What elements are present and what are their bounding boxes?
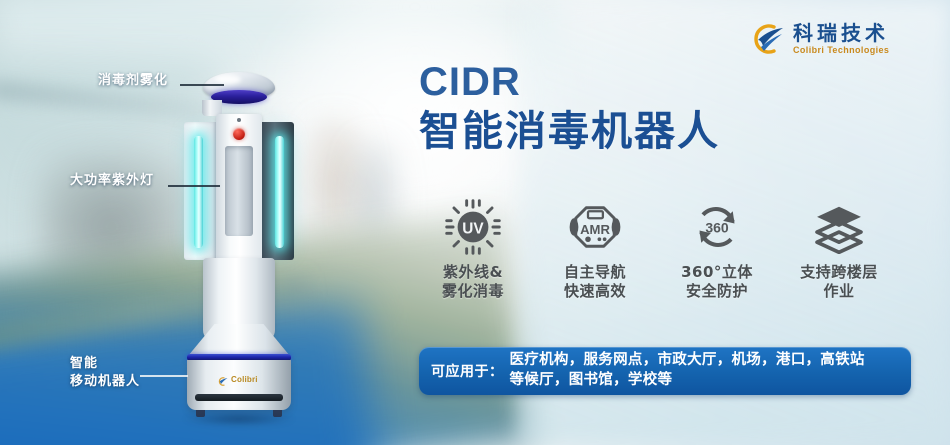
callout-leader-line-atomizer (180, 84, 224, 86)
feature-label-line2: 快速高效 (564, 282, 626, 301)
product-poster: 科瑞技术 Colibri Technologies CIDR 智能消毒机器人 (0, 0, 950, 445)
feature-label-uv: 紫外线& 雾化消毒 (442, 263, 504, 301)
svg-text:AMR: AMR (580, 222, 610, 237)
company-logo: 科瑞技术 Colibri Technologies (748, 20, 889, 58)
feature-item-amr: AMR 自主导航 快速高效 (534, 196, 656, 301)
feature-label-line2: 安全防护 (681, 282, 753, 301)
feature-label-line1: 自主导航 (564, 263, 626, 282)
application-banner-line2: 等候厅，图书馆，学校等 (510, 371, 865, 391)
feature-label-line1: 360°立体 (681, 263, 753, 282)
callout-leader-line-uv-lamp (168, 185, 220, 187)
feature-label-360: 360°立体 安全防护 (681, 263, 753, 301)
robot-shadow (182, 412, 296, 426)
robot-base-vent (195, 394, 283, 401)
uv-sun-icon: UV (444, 196, 502, 258)
application-banner-line1: 医疗机构，服务网点，市政大厅，机场，港口，高铁站 (510, 351, 865, 371)
rotate-360-icon: 360 (689, 196, 745, 258)
svg-text:360: 360 (705, 219, 729, 235)
layers-stack-icon (812, 196, 866, 258)
application-banner: 可应用于： 医疗机构，服务网点，市政大厅，机场，港口，高铁站 等候厅，图书馆，学… (419, 347, 911, 395)
robot-torso (184, 114, 294, 262)
colibri-swoosh-icon (748, 20, 786, 58)
robot-center-column (216, 114, 262, 262)
robot-illustration: Colibri (176, 72, 302, 432)
callout-mobile-robot: 智能 移动机器人 (70, 355, 140, 390)
feature-label-line2: 作业 (800, 282, 878, 301)
svg-text:UV: UV (462, 220, 484, 237)
callout-atomizer-line1: 消毒剂雾化 (98, 72, 168, 90)
robot-indicator-dot (237, 118, 241, 122)
callout-uv-lamp: 大功率紫外灯 (70, 172, 154, 190)
feature-list: UV 紫外线& 雾化消毒 AMR (412, 196, 912, 301)
robot-base-logo: Colibri (217, 374, 258, 385)
feature-label-line1: 紫外线& (442, 263, 504, 282)
callout-uv-lamp-line1: 大功率紫外灯 (70, 172, 154, 190)
robot-power-button[interactable] (233, 128, 245, 140)
company-name-en: Colibri Technologies (793, 46, 889, 55)
feature-label-multifloor: 支持跨楼层 作业 (800, 263, 878, 301)
robot-base: Colibri (187, 360, 291, 410)
feature-label-line2: 雾化消毒 (442, 282, 504, 301)
amr-robot-icon: AMR (567, 196, 623, 258)
feature-label-amr: 自主导航 快速高效 (564, 263, 626, 301)
feature-item-360: 360 360°立体 安全防护 (656, 196, 778, 301)
colibri-swoosh-icon (217, 374, 228, 385)
callout-leader-line-mobile-robot (140, 375, 188, 377)
callout-mobile-robot-line1: 智能 (70, 355, 140, 373)
callout-atomizer: 消毒剂雾化 (98, 72, 168, 90)
product-code: CIDR (419, 62, 720, 102)
robot-base-logo-text: Colibri (231, 375, 258, 384)
feature-label-line1: 支持跨楼层 (800, 263, 878, 282)
feature-item-uv: UV 紫外线& 雾化消毒 (412, 196, 534, 301)
application-banner-lead: 可应用于： (431, 361, 504, 381)
product-title-cn: 智能消毒机器人 (419, 108, 720, 155)
application-banner-body: 医疗机构，服务网点，市政大厅，机场，港口，高铁站 等候厅，图书馆，学校等 (510, 351, 865, 390)
company-logo-text: 科瑞技术 Colibri Technologies (793, 23, 889, 55)
robot-dome-highlight (215, 75, 241, 84)
company-name-cn: 科瑞技术 (793, 23, 889, 43)
robot-uv-lamp-right (275, 136, 284, 248)
callout-mobile-robot-line2: 移动机器人 (70, 373, 140, 391)
feature-item-multifloor: 支持跨楼层 作业 (778, 196, 900, 301)
robot-uv-lamp-left (194, 136, 203, 248)
robot-atomizer-slot (225, 146, 253, 236)
page-title: CIDR 智能消毒机器人 (419, 62, 720, 155)
